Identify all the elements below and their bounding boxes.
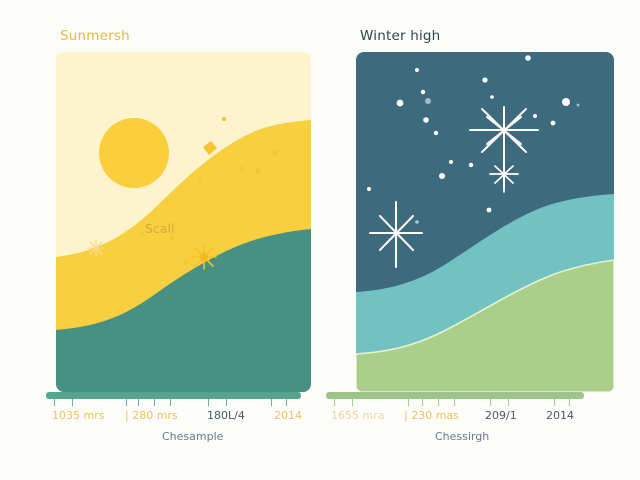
winter-axis-caption: Chessirgh <box>435 430 489 443</box>
panel-winter-plot <box>356 52 614 392</box>
panel-winter-title: Winter high <box>360 28 440 44</box>
winter-tick-label-1: 1655 mra <box>331 409 384 422</box>
panel-summer-title: Sunmersh <box>60 28 130 44</box>
summer-sparkle-small-icon <box>88 240 104 256</box>
summer-axis-caption: Chesample <box>162 430 223 443</box>
winter-axis-line <box>326 392 584 399</box>
winter-tick-label-4: 2014 <box>546 409 574 422</box>
winter-tick-label-2: | 230 mas <box>404 409 459 422</box>
winter-tick-label-3: 209/1 <box>485 409 517 422</box>
summer-scene <box>56 52 311 392</box>
illustration-canvas: Sunmersh <box>0 0 640 480</box>
winter-scene <box>356 52 614 392</box>
panel-summer-plot <box>56 52 311 392</box>
summer-tick-label-2: | 280 mrs <box>125 409 178 422</box>
winter-axis-ticks <box>326 399 584 406</box>
summer-tick-label-4: 2014 <box>274 409 302 422</box>
panel-winter: Winter high <box>310 0 610 480</box>
sun-icon <box>99 118 169 188</box>
summer-axis-ticks <box>46 399 301 406</box>
summer-tick-label-3: 180L/4 <box>207 409 245 422</box>
summer-sparkle-core <box>200 253 208 261</box>
panel-summer: Sunmersh <box>10 0 310 480</box>
summer-axis-line <box>46 392 301 399</box>
summer-tick-label-1: 1035 mrs <box>52 409 104 422</box>
